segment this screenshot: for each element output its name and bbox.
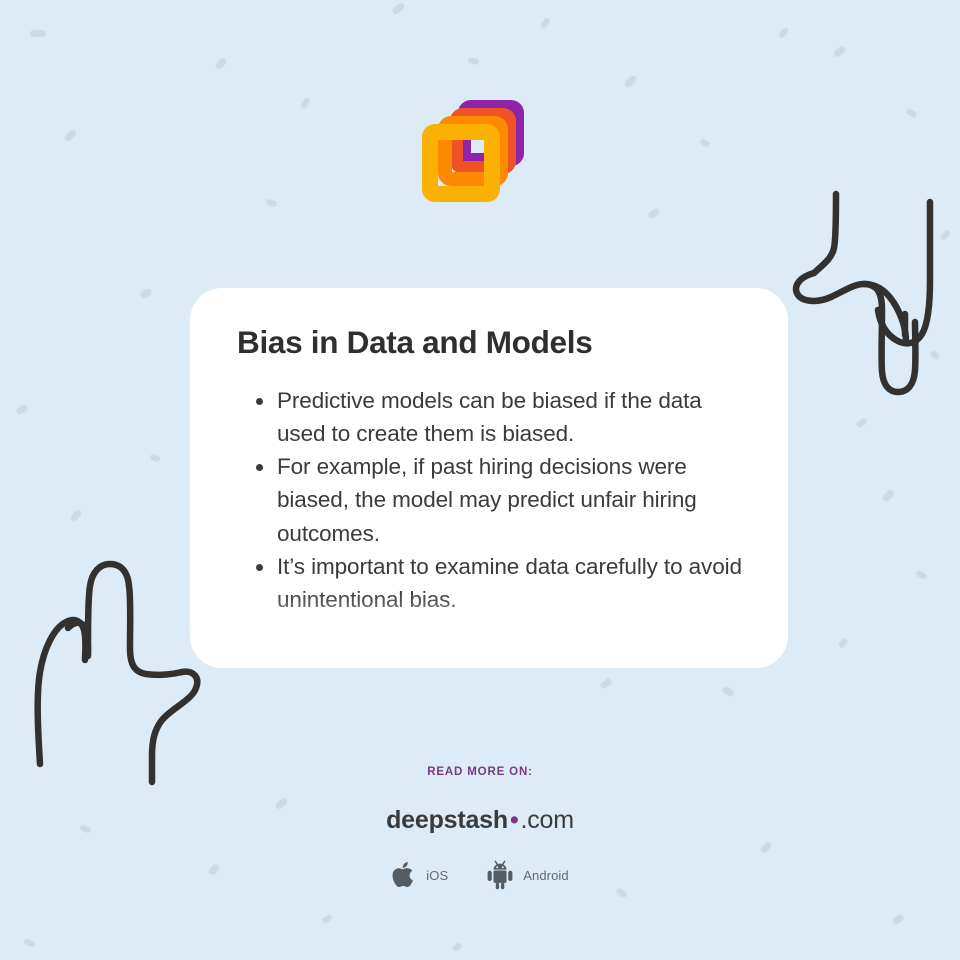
confetti-dash bbox=[139, 287, 153, 299]
confetti-dash bbox=[837, 637, 848, 649]
confetti-dash bbox=[300, 97, 311, 110]
ios-store-link[interactable]: iOS bbox=[391, 860, 448, 890]
android-icon bbox=[486, 860, 514, 890]
list-item: Predictive models can be biased if the d… bbox=[237, 384, 742, 450]
confetti-dash bbox=[63, 128, 77, 142]
confetti-dash bbox=[881, 488, 895, 502]
confetti-dash bbox=[647, 207, 661, 220]
list-item: For example, if past hiring decisions we… bbox=[237, 450, 742, 550]
list-item: It’s important to examine data carefully… bbox=[237, 550, 742, 616]
ios-store-label: iOS bbox=[426, 868, 448, 883]
confetti-dash bbox=[265, 198, 277, 207]
confetti-dash bbox=[467, 57, 479, 66]
confetti-dash bbox=[699, 138, 711, 148]
confetti-dash bbox=[23, 938, 36, 948]
confetti-dash bbox=[15, 403, 29, 415]
confetti-dash bbox=[599, 677, 613, 690]
confetti-dash bbox=[30, 30, 46, 37]
android-store-label: Android bbox=[523, 868, 569, 883]
confetti-dash bbox=[832, 45, 846, 59]
confetti-dash bbox=[905, 108, 918, 119]
confetti-dash bbox=[149, 453, 160, 462]
store-badges: iOS Android bbox=[0, 860, 960, 890]
confetti-dash bbox=[778, 27, 790, 39]
confetti-dash bbox=[321, 914, 333, 924]
deepstash-wordmark[interactable]: deepstash•.com bbox=[0, 806, 960, 835]
confetti-dash bbox=[623, 74, 637, 88]
wordmark-dot-icon: • bbox=[508, 806, 521, 834]
confetti-dash bbox=[721, 685, 735, 697]
confetti-dash bbox=[915, 570, 928, 580]
apple-icon bbox=[391, 860, 417, 890]
card-body: Bias in Data and Models Predictive model… bbox=[190, 288, 788, 616]
page-title: Bias in Data and Models bbox=[237, 324, 742, 362]
deepstash-logo bbox=[424, 100, 524, 202]
confetti-dash bbox=[451, 942, 463, 953]
confetti-dash bbox=[69, 509, 82, 523]
confetti-dash bbox=[891, 913, 905, 926]
confetti-dash bbox=[540, 17, 551, 29]
wordmark-name: deepstash bbox=[386, 806, 508, 834]
android-store-link[interactable]: Android bbox=[486, 860, 569, 890]
confetti-dash bbox=[855, 417, 867, 428]
read-more-label: READ MORE ON: bbox=[0, 766, 960, 778]
confetti-dash bbox=[214, 57, 227, 71]
content-card: Bias in Data and Models Predictive model… bbox=[190, 288, 788, 668]
wordmark-tld: .com bbox=[521, 806, 574, 834]
bullet-list: Predictive models can be biased if the d… bbox=[237, 384, 742, 616]
confetti-dash bbox=[391, 2, 405, 16]
footer: READ MORE ON: deepstash•.com iOS bbox=[0, 766, 960, 890]
logo-square-amber bbox=[422, 124, 500, 202]
